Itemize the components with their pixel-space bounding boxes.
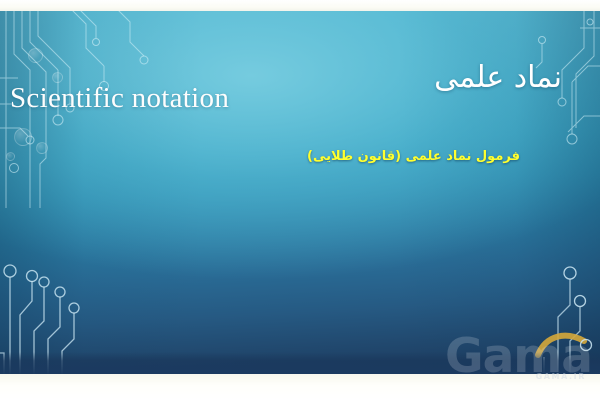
- page-title-english: Scientific notation: [10, 82, 229, 115]
- subtitle-persian: فرمول نماد علمی (قانون طلایی): [307, 149, 520, 164]
- slide-top-margin: [0, 0, 600, 11]
- bubble-cluster-icon: [36, 142, 48, 154]
- bubble-cluster-icon: [28, 48, 43, 63]
- presentation-slide: Gama GAMA.IR Scientific notation نماد عل…: [0, 0, 600, 400]
- watermark-subtext: GAMA.IR: [536, 372, 586, 381]
- bubble-cluster-icon: [14, 128, 32, 146]
- page-title-persian: نماد علمی: [434, 60, 562, 95]
- bubble-cluster-icon: [6, 152, 15, 161]
